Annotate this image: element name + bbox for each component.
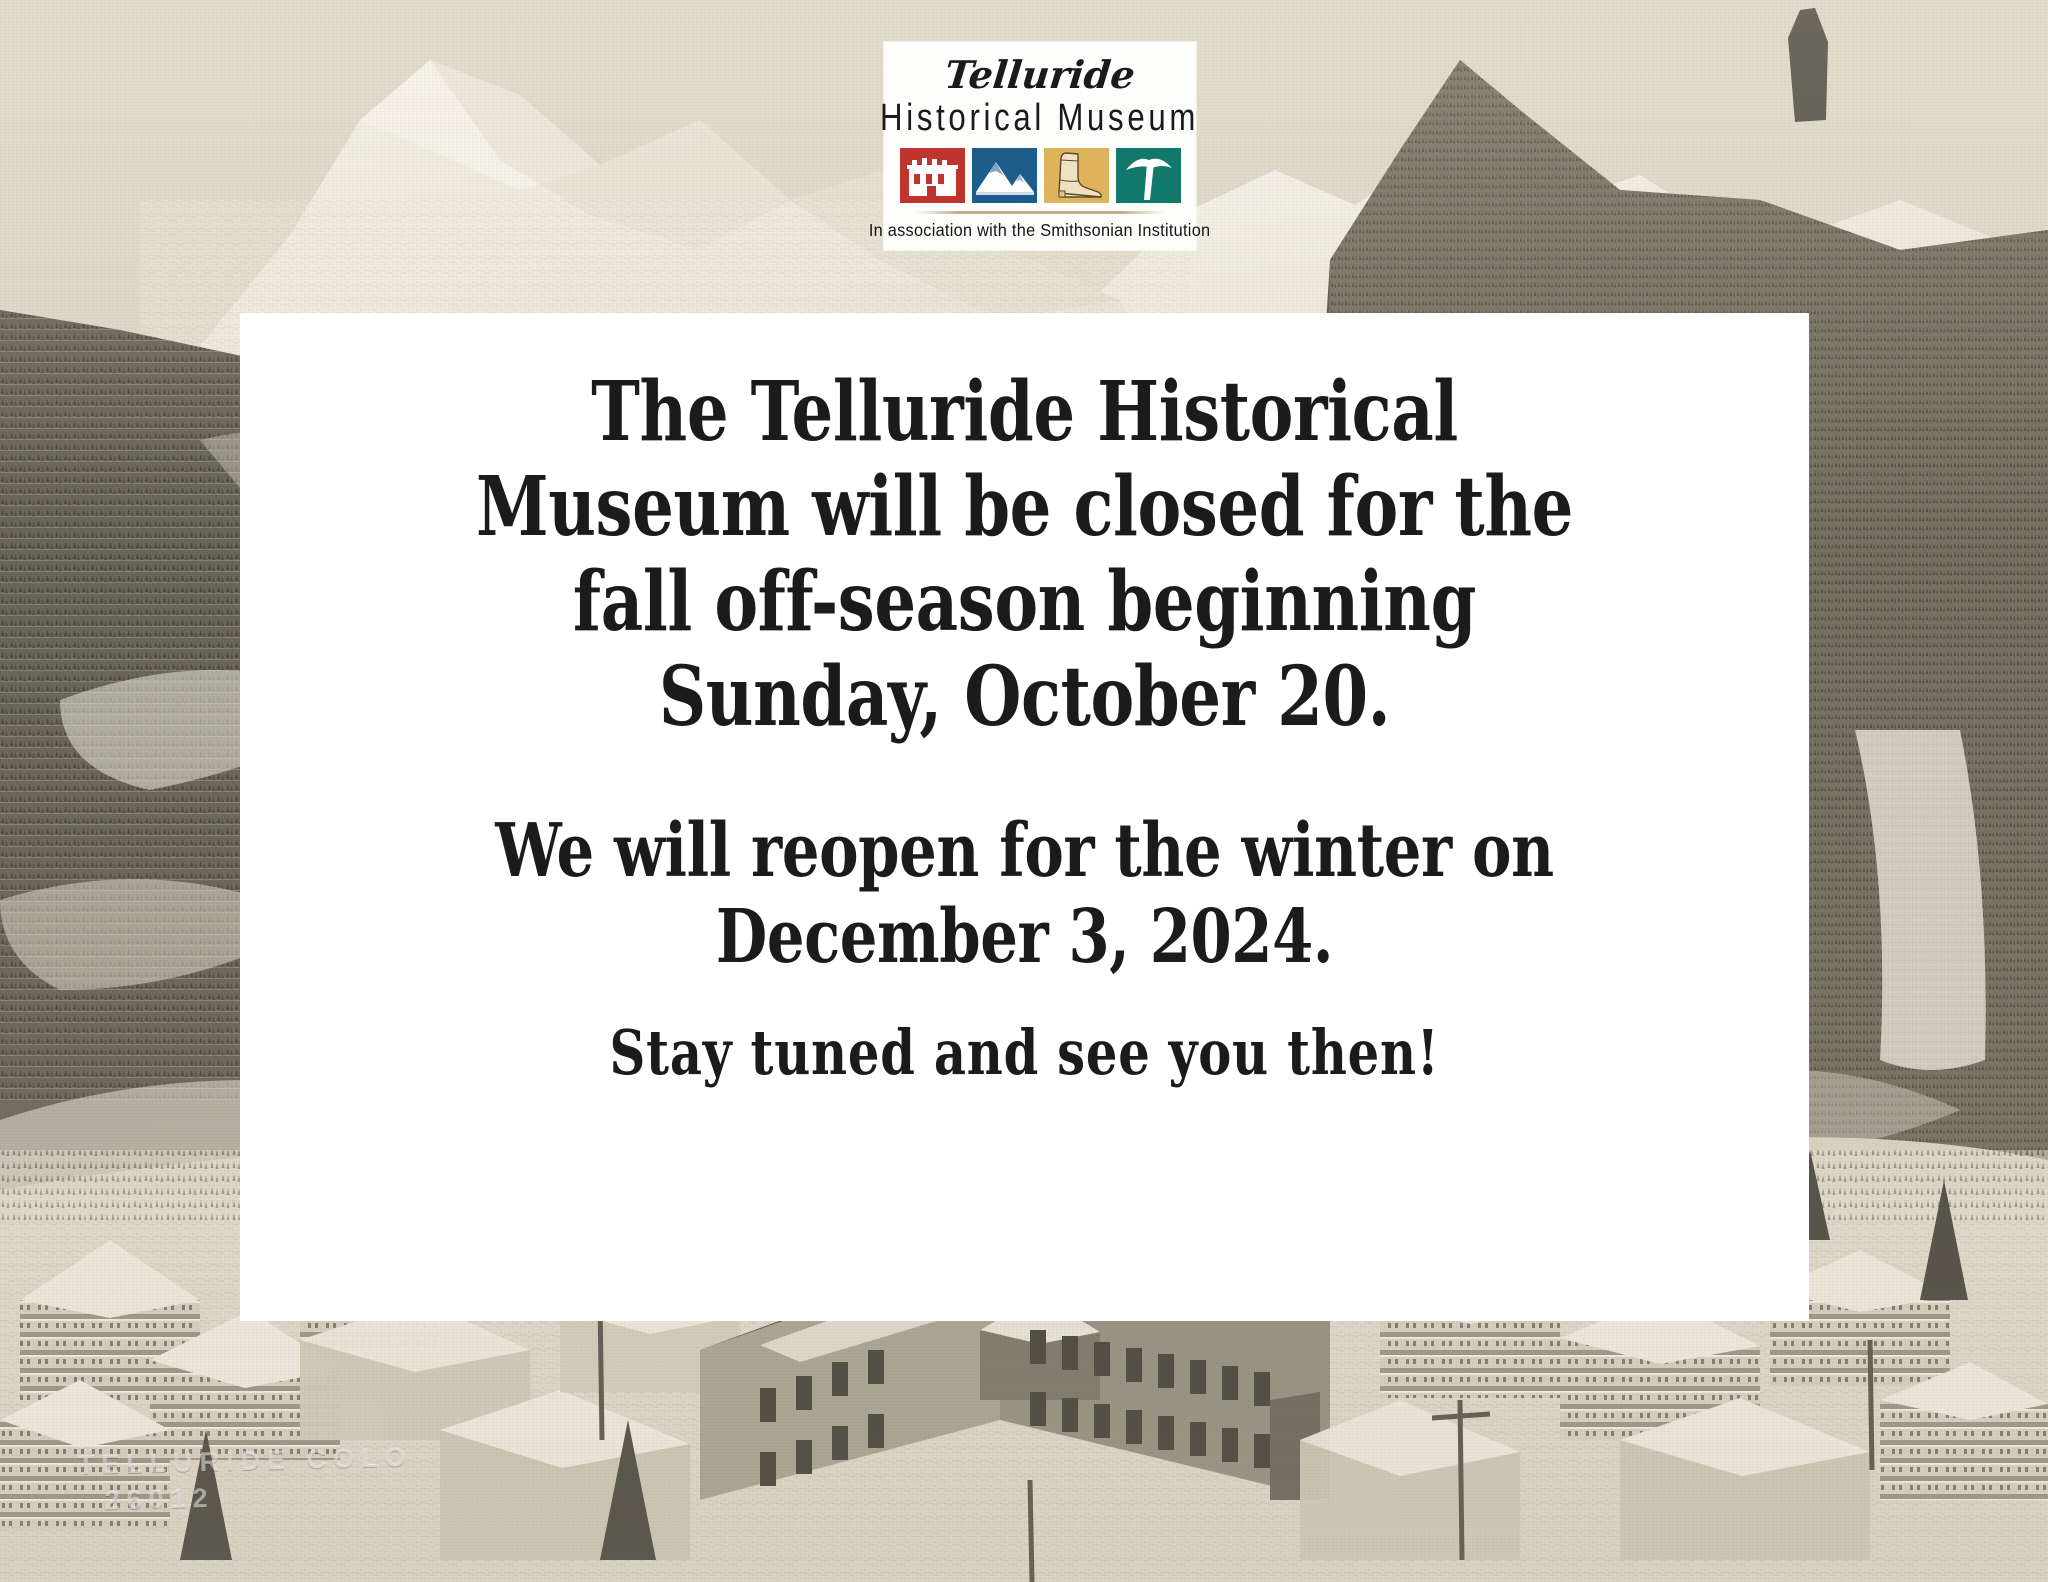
pickaxe-icon [1116,148,1181,203]
house-icon [900,148,965,203]
reopening-subhead: We will reopen for the winter on Decembe… [453,809,1596,981]
boot-icon [1044,148,1109,203]
mountains-icon [972,148,1037,203]
logo-icon-tiles [900,148,1181,203]
logo-tagline: In association with the Smithsonian Inst… [869,220,1211,241]
museum-logo[interactable]: Telluride Historical Museum [884,42,1196,250]
closure-headline: The Telluride Historical Museum will be … [453,365,1596,745]
announcement-graphic: TELLURIDE COLO 26012 Telluride Historica… [0,0,2048,1582]
logo-divider [915,211,1165,214]
logo-script-name: Telluride [943,56,1137,94]
logo-wordmark: Historical Museum [880,99,1199,137]
signoff-text: Stay tuned and see you then! [453,1017,1596,1089]
message-panel: The Telluride Historical Museum will be … [240,313,1809,1321]
